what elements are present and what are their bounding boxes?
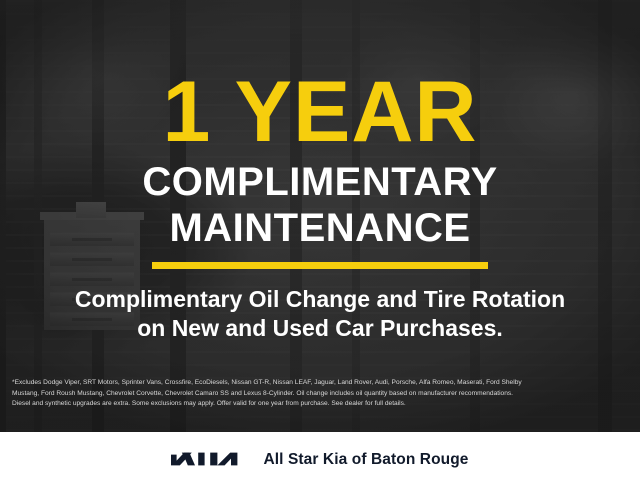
headline-maintenance: MAINTENANCE (169, 208, 470, 248)
yellow-divider-bar (152, 262, 488, 269)
hero-section: 1 YEAR COMPLIMENTARY MAINTENANCE Complim… (0, 0, 640, 432)
offer-description: Complimentary Oil Change and Tire Rotati… (20, 285, 620, 344)
headline-year: 1 YEAR (162, 76, 477, 150)
disclaimer-line-1: *Excludes Dodge Viper, SRT Motors, Sprin… (12, 378, 628, 389)
disclaimer-line-2: Mustang, Ford Roush Mustang, Chevrolet C… (12, 389, 628, 400)
disclaimer-text: *Excludes Dodge Viper, SRT Motors, Sprin… (0, 378, 640, 410)
offer-line-2: on New and Used Car Purchases. (20, 314, 620, 343)
headline-complimentary: COMPLIMENTARY (142, 162, 497, 202)
kia-logo-icon (171, 449, 245, 471)
promotional-banner: 1 YEAR COMPLIMENTARY MAINTENANCE Complim… (0, 0, 640, 488)
hero-content: 1 YEAR COMPLIMENTARY MAINTENANCE Complim… (0, 0, 640, 432)
offer-line-1: Complimentary Oil Change and Tire Rotati… (20, 285, 620, 314)
disclaimer-line-3: Diesel and synthetic upgrades are extra.… (12, 399, 628, 410)
footer-bar: All Star Kia of Baton Rouge (0, 432, 640, 488)
dealer-name: All Star Kia of Baton Rouge (263, 451, 468, 469)
